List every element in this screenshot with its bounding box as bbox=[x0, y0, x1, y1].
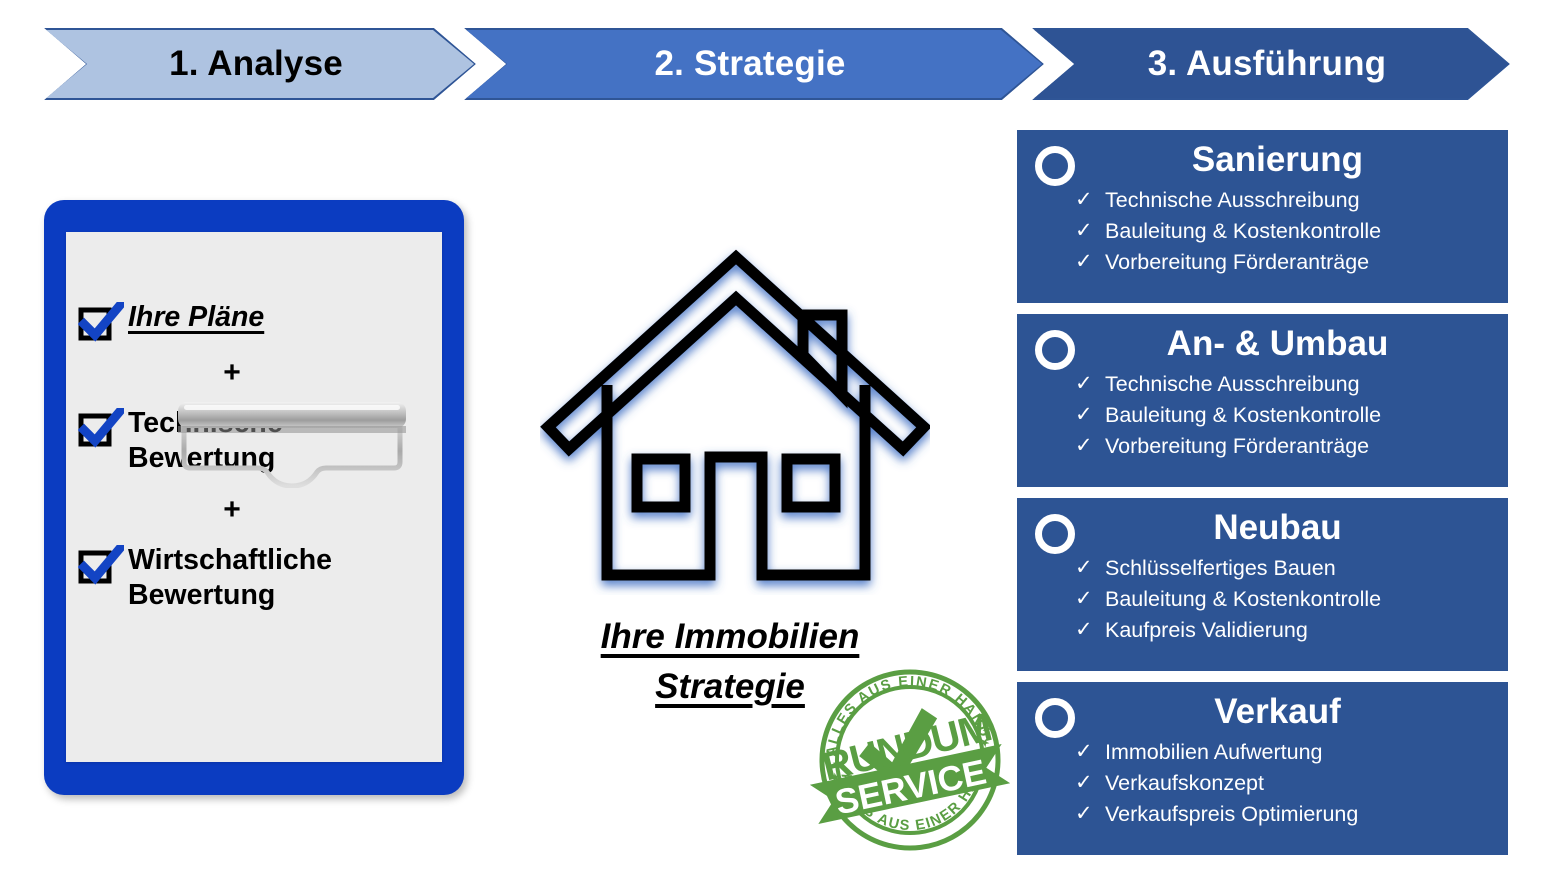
service-item: ✓Vorbereitung Förderanträge bbox=[1075, 247, 1494, 278]
strategy-caption-line-1: Ihre Immobilien bbox=[500, 612, 960, 662]
service-item: ✓Bauleitung & Kostenkontrolle bbox=[1075, 216, 1494, 247]
service-item-label: Technische Ausschreibung bbox=[1105, 188, 1360, 212]
house-icon bbox=[540, 245, 930, 595]
process-step-2[interactable]: 2. Strategie bbox=[464, 28, 1044, 100]
service-card-items: ✓Technische Ausschreibung ✓Bauleitung & … bbox=[1031, 369, 1494, 462]
process-step-3-label: 3. Ausführung bbox=[1148, 44, 1395, 84]
service-card-title: An- & Umbau bbox=[1031, 324, 1494, 365]
service-item: ✓Kaufpreis Validierung bbox=[1075, 615, 1494, 646]
checklist-item[interactable]: Wirtschaftliche Bewertung bbox=[66, 543, 442, 614]
clipboard-clip-icon bbox=[172, 400, 412, 488]
rundum-service-stamp: ALLES AUS EINER HAND ALLES AUS EINER HAN… bbox=[810, 660, 1010, 860]
service-item: ✓Verkaufskonzept bbox=[1075, 768, 1494, 799]
service-card-items: ✓Schlüsselfertiges Bauen ✓Bauleitung & K… bbox=[1031, 553, 1494, 646]
analysis-clipboard: Ihre Pläne + Technische Bewertung + Wirt… bbox=[44, 200, 464, 795]
check-icon: ✓ bbox=[1075, 737, 1093, 767]
process-step-1[interactable]: 1. Analyse bbox=[44, 28, 476, 100]
service-item-label: Schlüsselfertiges Bauen bbox=[1105, 556, 1336, 580]
ring-bullet-icon bbox=[1035, 146, 1075, 186]
service-card-verkauf[interactable]: Verkauf ✓Immobilien Aufwertung ✓Verkaufs… bbox=[1017, 682, 1508, 855]
process-step-1-label: 1. Analyse bbox=[169, 44, 351, 84]
service-card-neubau[interactable]: Neubau ✓Schlüsselfertiges Bauen ✓Bauleit… bbox=[1017, 498, 1508, 671]
service-card-items: ✓Immobilien Aufwertung ✓Verkaufskonzept … bbox=[1031, 737, 1494, 830]
check-icon: ✓ bbox=[1075, 431, 1093, 461]
service-item: ✓Vorbereitung Förderanträge bbox=[1075, 431, 1494, 462]
service-item-label: Verkaufspreis Optimierung bbox=[1105, 802, 1358, 826]
service-item-label: Kaufpreis Validierung bbox=[1105, 618, 1308, 642]
service-item-label: Bauleitung & Kostenkontrolle bbox=[1105, 587, 1381, 611]
service-item: ✓Technische Ausschreibung bbox=[1075, 185, 1494, 216]
service-item: ✓Immobilien Aufwertung bbox=[1075, 737, 1494, 768]
check-icon: ✓ bbox=[1075, 185, 1093, 215]
service-item-label: Immobilien Aufwertung bbox=[1105, 740, 1323, 764]
service-item-label: Technische Ausschreibung bbox=[1105, 372, 1360, 396]
service-card-sanierung[interactable]: Sanierung ✓Technische Ausschreibung ✓Bau… bbox=[1017, 130, 1508, 303]
ring-bullet-icon bbox=[1035, 698, 1075, 738]
service-card-title: Neubau bbox=[1031, 508, 1494, 549]
service-card-items: ✓Technische Ausschreibung ✓Bauleitung & … bbox=[1031, 185, 1494, 278]
process-step-2-label: 2. Strategie bbox=[654, 44, 853, 84]
ring-bullet-icon bbox=[1035, 514, 1075, 554]
checklist-item-label: Ihre Pläne bbox=[128, 300, 432, 335]
check-icon: ✓ bbox=[1075, 768, 1093, 798]
service-item: ✓Bauleitung & Kostenkontrolle bbox=[1075, 400, 1494, 431]
check-icon: ✓ bbox=[1075, 400, 1093, 430]
ring-bullet-icon bbox=[1035, 330, 1075, 370]
service-card-title: Verkauf bbox=[1031, 692, 1494, 733]
service-item-label: Bauleitung & Kostenkontrolle bbox=[1105, 219, 1381, 243]
check-icon: ✓ bbox=[1075, 584, 1093, 614]
check-icon: ✓ bbox=[1075, 247, 1093, 277]
service-cards-list: Sanierung ✓Technische Ausschreibung ✓Bau… bbox=[1017, 130, 1508, 855]
plus-separator: + bbox=[66, 495, 442, 525]
service-card-title: Sanierung bbox=[1031, 140, 1494, 181]
service-item-label: Vorbereitung Förderanträge bbox=[1105, 250, 1369, 274]
check-icon: ✓ bbox=[1075, 369, 1093, 399]
plus-separator: + bbox=[66, 358, 442, 388]
process-header: 1. Analyse 2. Strategie 3. Ausführung bbox=[0, 0, 1555, 118]
service-item: ✓Verkaufspreis Optimierung bbox=[1075, 799, 1494, 830]
service-item: ✓Technische Ausschreibung bbox=[1075, 369, 1494, 400]
service-item: ✓Bauleitung & Kostenkontrolle bbox=[1075, 584, 1494, 615]
service-item-label: Verkaufskonzept bbox=[1105, 771, 1264, 795]
check-icon: ✓ bbox=[1075, 615, 1093, 645]
service-item-label: Bauleitung & Kostenkontrolle bbox=[1105, 403, 1381, 427]
service-item-label: Vorbereitung Förderanträge bbox=[1105, 434, 1369, 458]
check-icon: ✓ bbox=[1075, 799, 1093, 829]
checklist-item-label: Wirtschaftliche Bewertung bbox=[128, 543, 432, 614]
check-icon: ✓ bbox=[1075, 553, 1093, 583]
checklist-item[interactable]: Ihre Pläne bbox=[66, 300, 442, 340]
checkbox-checked-icon bbox=[78, 408, 124, 448]
check-icon: ✓ bbox=[1075, 216, 1093, 246]
service-item: ✓Schlüsselfertiges Bauen bbox=[1075, 553, 1494, 584]
checkbox-checked-icon bbox=[78, 302, 124, 342]
service-card-an-umbau[interactable]: An- & Umbau ✓Technische Ausschreibung ✓B… bbox=[1017, 314, 1508, 487]
process-step-3[interactable]: 3. Ausführung bbox=[1032, 28, 1510, 100]
checkbox-checked-icon bbox=[78, 545, 124, 585]
